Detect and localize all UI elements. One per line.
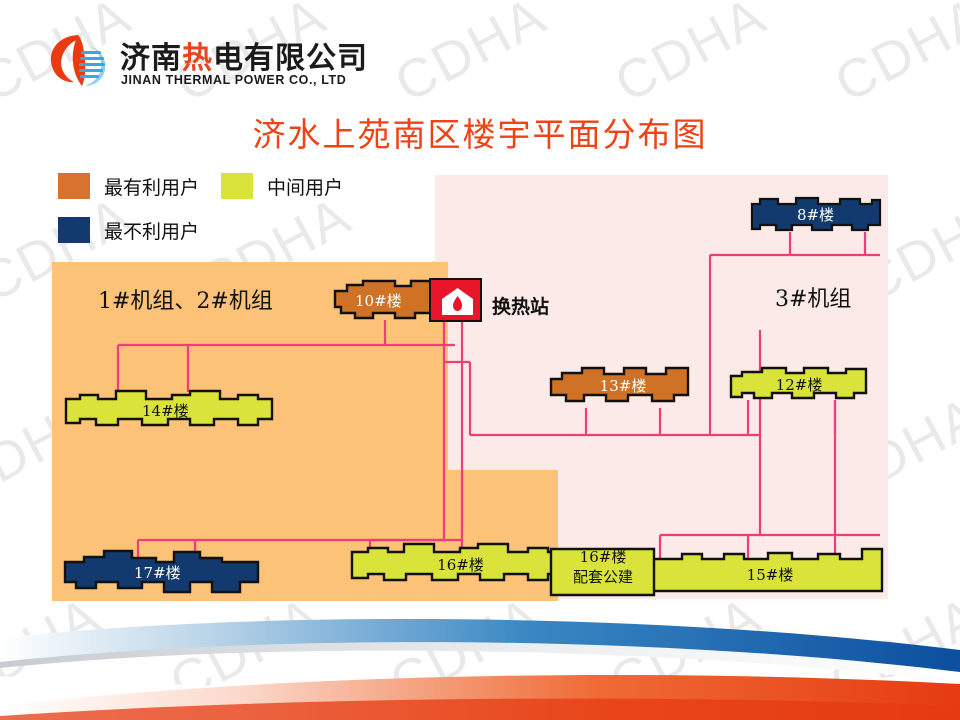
logo-cn-hot: 热 [182, 41, 213, 76]
heat-exchange-station-icon [440, 287, 475, 317]
building-14[interactable]: 14#楼 [62, 385, 277, 435]
building-15[interactable]: 15#楼 [650, 541, 890, 599]
logo-cn-part1: 济南 [120, 41, 182, 76]
logo-cn-part2: 电有限公司 [213, 41, 368, 76]
flame-swirl-logo-icon [48, 33, 110, 89]
building-sublabel: 配套公建 [573, 567, 633, 587]
building-8[interactable]: 8#楼 [748, 196, 883, 233]
slide-canvas: CDHA CDHA CDHA CDHA CDHA CDHA CDHA CDHA … [0, 0, 960, 720]
building-label: 16#楼 [580, 547, 627, 567]
building-16[interactable]: 16#楼 [348, 538, 573, 590]
bottom-decoration [0, 610, 960, 720]
legend-row: 最不利用户 [58, 214, 365, 246]
legend-swatch-blue [58, 217, 90, 243]
page-title: 济水上苑南区楼宇平面分布图 [0, 108, 960, 156]
legend-label: 最不利用户 [104, 217, 199, 244]
legend-item-middle: 中间用户 [221, 173, 343, 200]
station-label: 换热站 [492, 292, 549, 319]
logo-english-name: JINAN THERMAL POWER CO., LTD [121, 73, 346, 87]
company-logo: 济南热电有限公司 JINAN THERMAL POWER CO., LTD [48, 33, 378, 89]
zone-label-unit-3: 3#机组 [775, 281, 851, 313]
building-10[interactable]: 10#楼 [333, 279, 438, 321]
legend-swatch-orange [58, 173, 90, 199]
building-12[interactable]: 12#楼 [728, 366, 870, 402]
legend-label: 中间用户 [267, 173, 343, 200]
building-16-public-facility[interactable]: 16#楼 配套公建 [548, 535, 658, 599]
building-17[interactable]: 17#楼 [62, 546, 262, 598]
legend-label: 最有利用户 [104, 173, 199, 200]
legend-item-most-favorable: 最有利用户 [58, 173, 199, 200]
legend-row: 最有利用户 中间用户 [58, 170, 365, 202]
zone-label-unit-1-2: 1#机组、2#机组 [98, 283, 273, 315]
building-13[interactable]: 13#楼 [548, 363, 698, 408]
legend-item-least-favorable: 最不利用户 [58, 217, 199, 244]
logo-chinese-name: 济南热电有限公司 [120, 33, 368, 77]
building-16b-text-stack: 16#楼 配套公建 [548, 535, 658, 599]
legend-swatch-yellow [221, 173, 253, 199]
legend: 最有利用户 中间用户 最不利用户 [58, 170, 365, 246]
heat-exchange-station[interactable] [429, 278, 482, 322]
